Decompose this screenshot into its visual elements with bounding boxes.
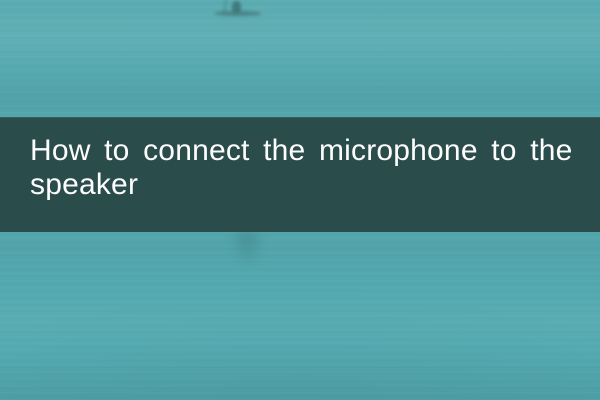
water-wake-streak: [232, 232, 262, 302]
caption-title: How to connect the microphone to the spe…: [30, 134, 582, 202]
caption-overlay-band: How to connect the microphone to the spe…: [0, 117, 600, 232]
thumbnail-image: How to connect the microphone to the spe…: [0, 0, 600, 400]
distant-person-silhouette: [208, 0, 270, 22]
water-spray-shape: [252, 8, 266, 12]
person-shape: [232, 1, 241, 12]
